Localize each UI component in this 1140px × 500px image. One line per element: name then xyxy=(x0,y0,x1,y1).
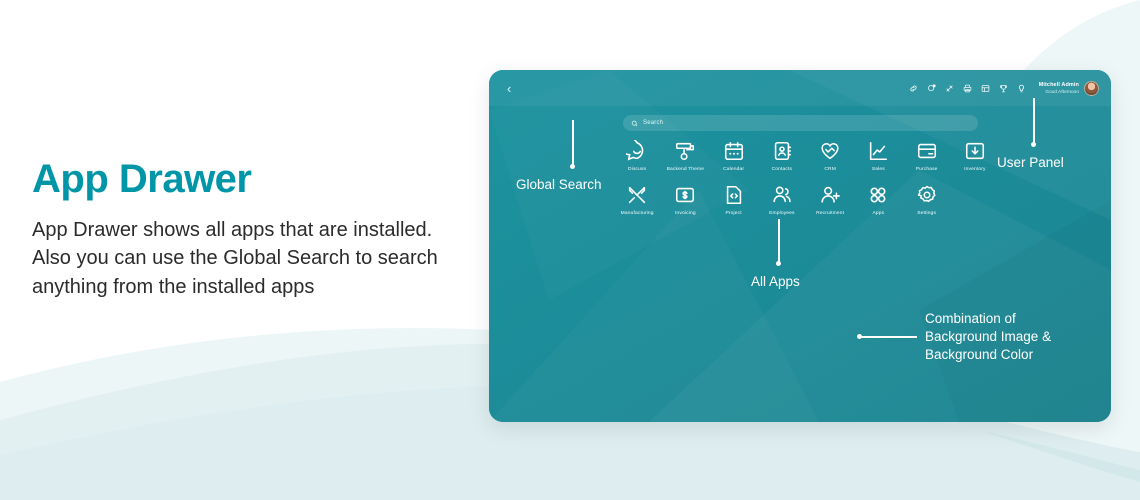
app-label: Sales xyxy=(872,167,885,172)
purchase-icon xyxy=(916,140,938,162)
app-label: Settings xyxy=(917,211,936,216)
search-placeholder: Search xyxy=(643,120,663,126)
app-item-discuss[interactable]: Discuss xyxy=(613,140,661,172)
manufacturing-icon xyxy=(626,184,648,206)
page-description: App Drawer shows all apps that are insta… xyxy=(32,216,452,301)
app-item-settings[interactable]: Settings xyxy=(903,184,951,216)
app-label: Contacts xyxy=(772,167,793,172)
callout-background: Combination of Background Image & Backgr… xyxy=(925,310,1051,363)
user-name: Mitchell Admin xyxy=(1039,82,1079,88)
app-item-recruitment[interactable]: Recruitment xyxy=(806,184,854,216)
callout-global-search: Global Search xyxy=(516,176,602,194)
leader-line xyxy=(778,219,780,265)
leader-line xyxy=(1033,98,1035,146)
recruitment-icon xyxy=(819,184,841,206)
app-item-employees[interactable]: Employees xyxy=(758,184,806,216)
sales-icon xyxy=(867,140,889,162)
search-icon xyxy=(631,120,638,127)
app-item-calendar[interactable]: Calendar xyxy=(710,140,758,172)
system-tray: Mitchell Admin Good Afternoon xyxy=(909,81,1099,96)
app-item-purchase[interactable]: Purchase xyxy=(903,140,951,172)
app-item-contacts[interactable]: Contacts xyxy=(758,140,806,172)
app-label: Purchase xyxy=(916,167,938,172)
callout-user-panel: User Panel xyxy=(997,154,1064,172)
page-title: App Drawer xyxy=(32,158,452,200)
apps-icon xyxy=(867,184,889,206)
crm-icon xyxy=(819,140,841,162)
callout-label: User Panel xyxy=(997,154,1064,172)
callout-all-apps: All Apps xyxy=(751,273,800,291)
app-label: CRM xyxy=(824,167,836,172)
leader-dot xyxy=(570,164,575,169)
activity-icon[interactable] xyxy=(945,84,954,93)
intro-copy: App Drawer App Drawer shows all apps tha… xyxy=(32,158,452,301)
settings-icon xyxy=(916,184,938,206)
app-label: Manufacturing xyxy=(621,211,654,216)
callout-label: All Apps xyxy=(751,273,800,291)
app-drawer-window: ‹ Mitc xyxy=(489,70,1111,422)
printer-icon[interactable] xyxy=(963,84,972,93)
drawer-topbar: ‹ Mitc xyxy=(489,70,1111,106)
app-label: Calendar xyxy=(723,167,744,172)
leader-dot xyxy=(857,334,862,339)
discuss-icon xyxy=(626,140,648,162)
app-item-project[interactable]: Project xyxy=(710,184,758,216)
user-names: Mitchell Admin Good Afternoon xyxy=(1039,82,1079,94)
project-icon xyxy=(723,184,745,206)
contacts-icon xyxy=(771,140,793,162)
trophy-icon[interactable] xyxy=(999,84,1008,93)
app-item-apps[interactable]: Apps xyxy=(854,184,902,216)
app-item-crm[interactable]: CRM xyxy=(806,140,854,172)
app-item-invoicing[interactable]: Invoicing xyxy=(661,184,709,216)
leader-line xyxy=(861,336,917,338)
app-label: Apps xyxy=(873,211,885,216)
leader-dot xyxy=(1031,142,1036,147)
leader-dot xyxy=(776,261,781,266)
app-item-inventory[interactable]: Inventory xyxy=(951,140,999,172)
global-search[interactable]: Search xyxy=(623,115,978,131)
grid-icon[interactable] xyxy=(981,84,990,93)
app-label: Inventory xyxy=(964,167,985,172)
invoicing-icon xyxy=(674,184,696,206)
app-label: Recruitment xyxy=(816,211,844,216)
app-label: Discuss xyxy=(628,167,646,172)
link-icon[interactable] xyxy=(909,84,918,93)
bulb-icon[interactable] xyxy=(1017,84,1026,93)
app-grid: Discuss Backend Theme Calendar Contacts xyxy=(613,140,999,216)
avatar[interactable] xyxy=(1084,81,1099,96)
app-label: Project xyxy=(725,211,741,216)
leader-line xyxy=(572,120,574,168)
calendar-icon xyxy=(723,140,745,162)
user-greeting: Good Afternoon xyxy=(1039,89,1079,94)
app-item-manufacturing[interactable]: Manufacturing xyxy=(613,184,661,216)
app-label: Invoicing xyxy=(675,211,696,216)
backend-theme-icon xyxy=(674,140,696,162)
employees-icon xyxy=(771,184,793,206)
messages-icon[interactable] xyxy=(927,84,936,93)
search-input[interactable]: Search xyxy=(623,115,978,131)
user-panel[interactable]: Mitchell Admin Good Afternoon xyxy=(1039,81,1099,96)
back-chevron-icon[interactable]: ‹ xyxy=(507,82,511,95)
app-item-backend-theme[interactable]: Backend Theme xyxy=(661,140,709,172)
app-label: Employees xyxy=(769,211,795,216)
app-item-sales[interactable]: Sales xyxy=(854,140,902,172)
callout-label: Combination of Background Image & Backgr… xyxy=(925,310,1051,363)
inventory-icon xyxy=(964,140,986,162)
app-label: Backend Theme xyxy=(667,167,704,172)
callout-label: Global Search xyxy=(516,176,602,194)
